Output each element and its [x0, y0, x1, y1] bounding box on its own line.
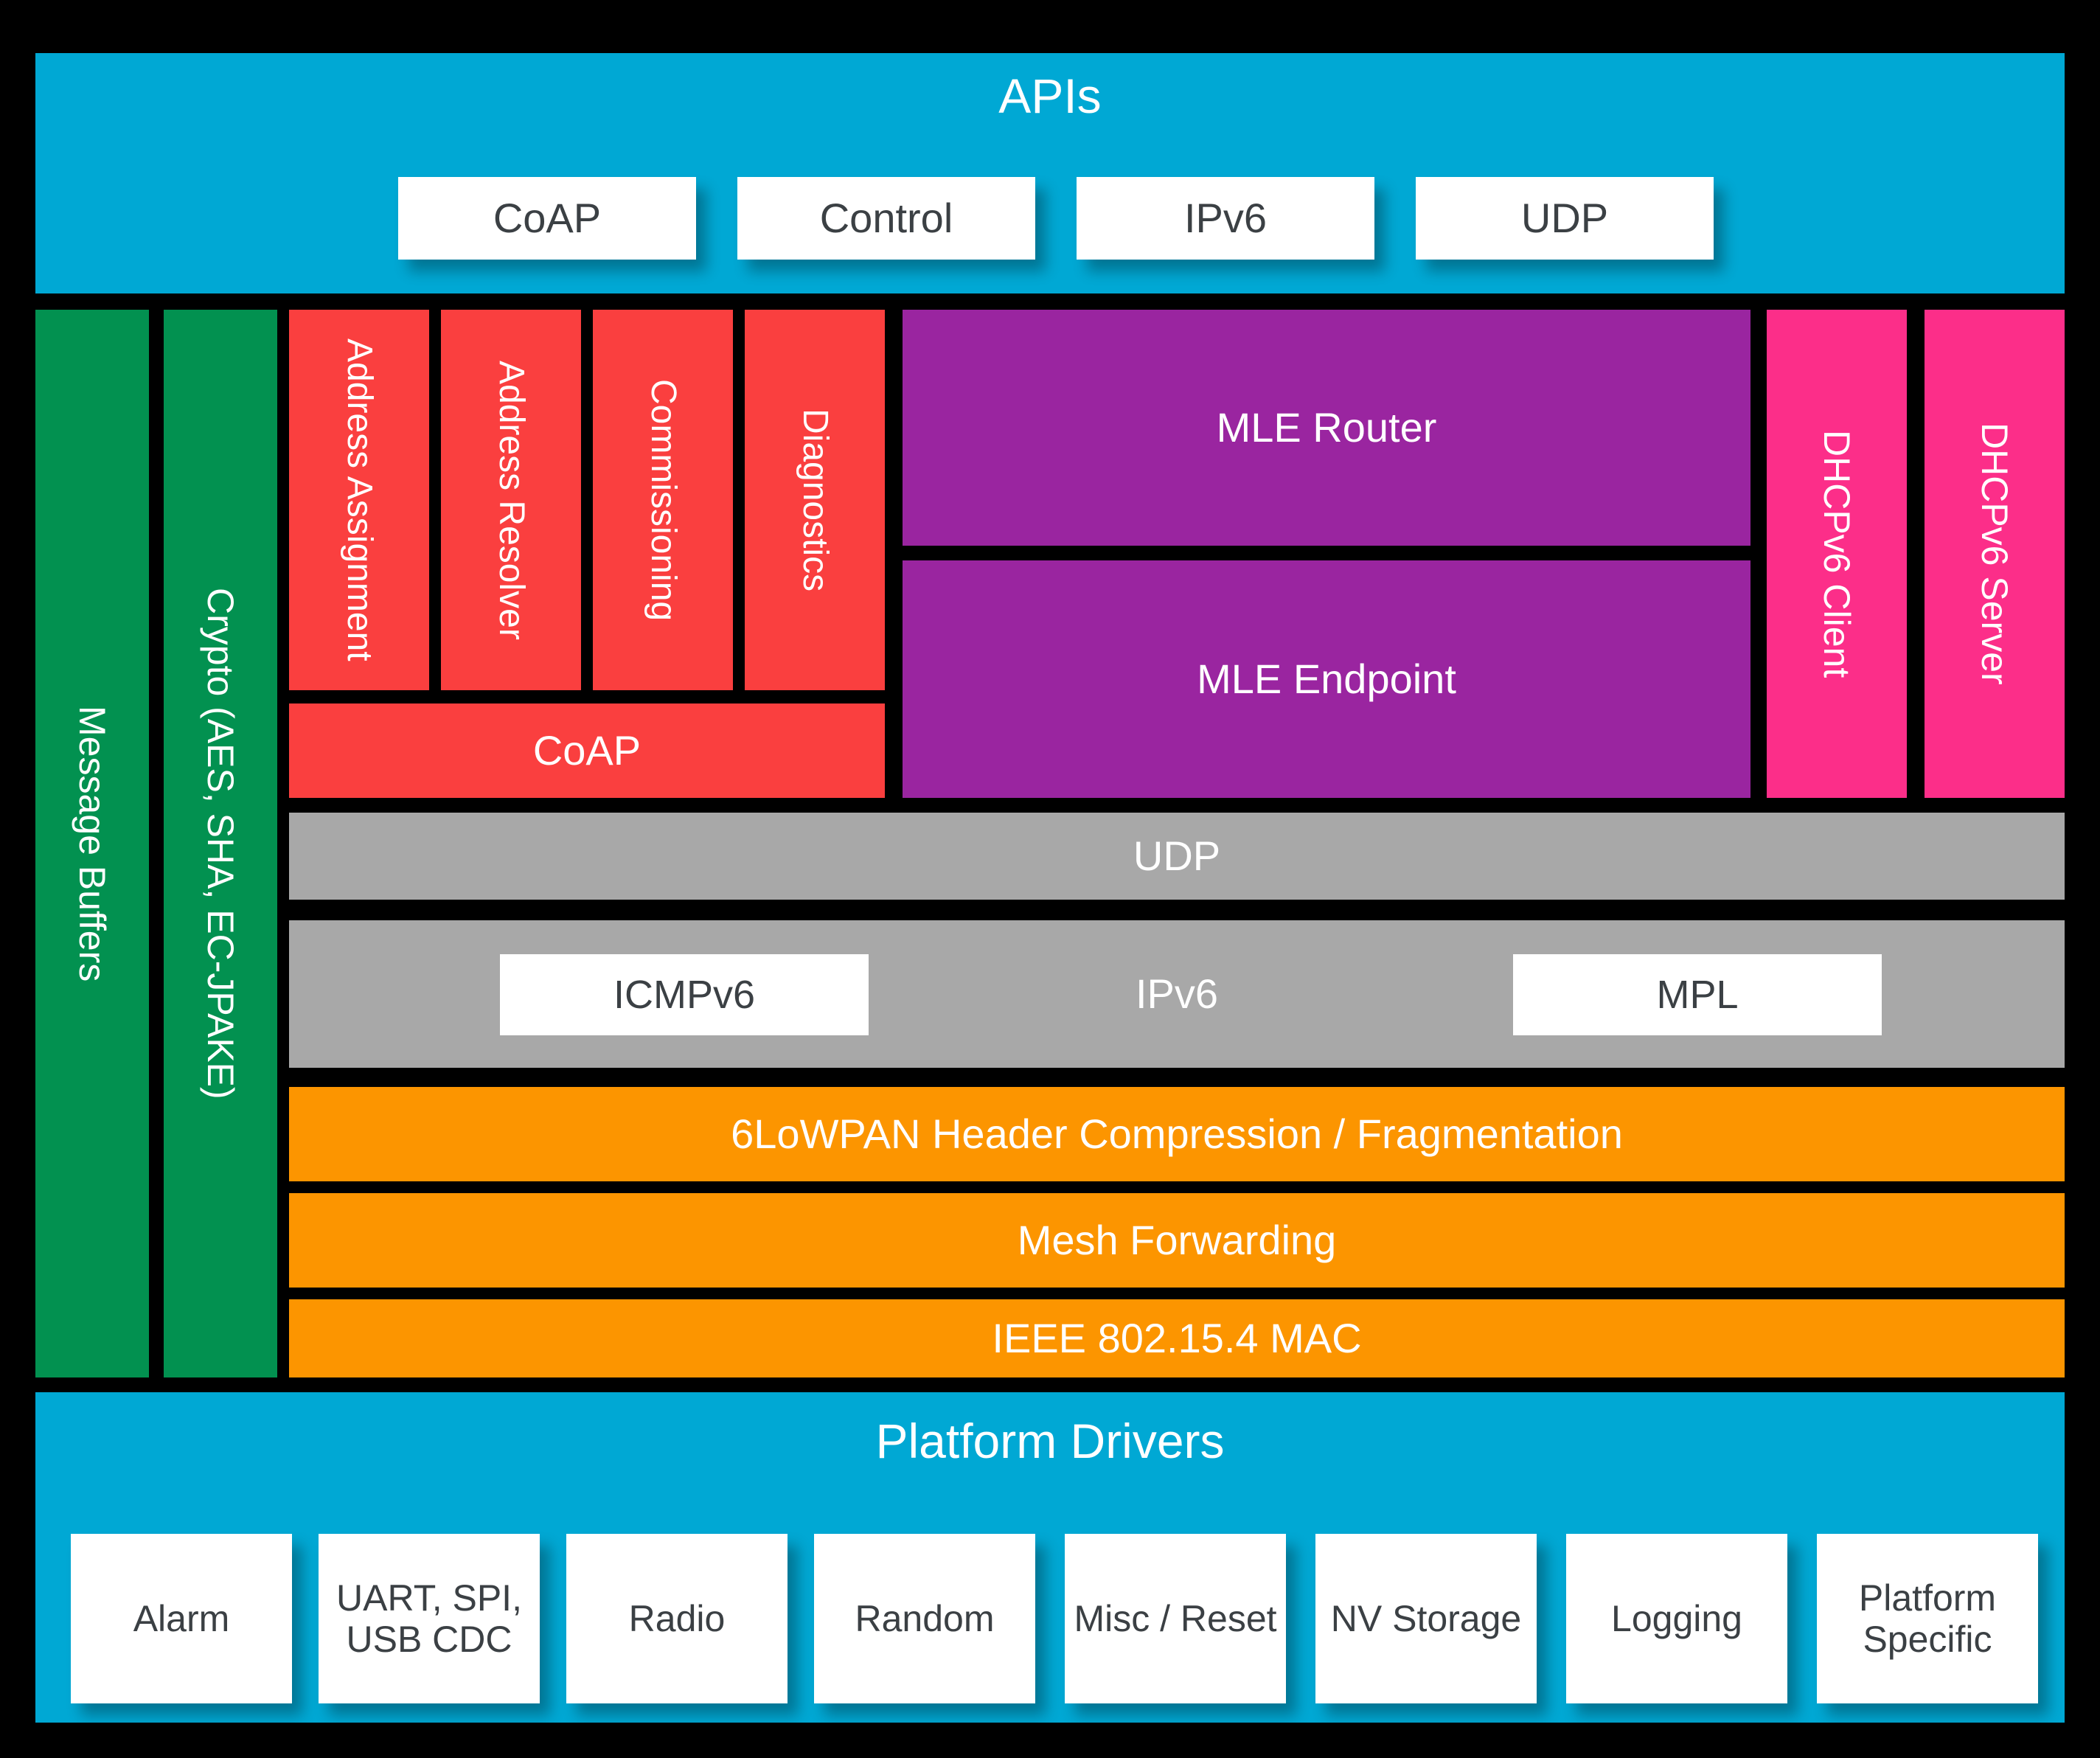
core-block-coap[interactable]: CoAP: [289, 703, 885, 798]
core-block-mle-router[interactable]: MLE Router: [903, 310, 1750, 546]
platform-driver-nv-storage[interactable]: NV Storage: [1315, 1534, 1537, 1703]
core-card-mpl[interactable]: MPL: [1513, 954, 1882, 1035]
core-card-icmpv6[interactable]: ICMPv6: [500, 954, 869, 1035]
platform-driver-platform-specific[interactable]: Platform Specific: [1817, 1534, 2038, 1703]
api-card-udp[interactable]: UDP: [1416, 177, 1714, 260]
core-block-6lowpan[interactable]: 6LoWPAN Header Compression / Fragmentati…: [289, 1087, 2065, 1181]
platform-driver-logging[interactable]: Logging: [1566, 1534, 1787, 1703]
core-column-address-assignment[interactable]: Address Assignment: [289, 310, 429, 690]
api-layer-band: APIs: [35, 53, 2065, 293]
core-column-message-buffers[interactable]: Message Buffers: [35, 310, 149, 1377]
core-column-dhcpv6-server[interactable]: DHCPv6 Server: [1925, 310, 2065, 798]
core-column-crypto[interactable]: Crypto (AES, SHA, EC-JPAKE): [164, 310, 277, 1377]
platform-layer-title: Platform Drivers: [35, 1408, 2065, 1475]
platform-driver-alarm[interactable]: Alarm: [71, 1534, 292, 1703]
core-block-mle-endpoint[interactable]: MLE Endpoint: [903, 560, 1750, 798]
platform-driver-uart-spi-usb-cdc[interactable]: UART, SPI, USB CDC: [319, 1534, 540, 1703]
core-block-ieee-802154-mac[interactable]: IEEE 802.15.4 MAC: [289, 1299, 2065, 1377]
core-block-mesh-forwarding[interactable]: Mesh Forwarding: [289, 1193, 2065, 1288]
platform-driver-radio[interactable]: Radio: [566, 1534, 787, 1703]
core-block-udp[interactable]: UDP: [289, 813, 2065, 900]
platform-driver-misc-reset[interactable]: Misc / Reset: [1065, 1534, 1286, 1703]
api-layer-title: APIs: [35, 63, 2065, 130]
platform-driver-random[interactable]: Random: [814, 1534, 1035, 1703]
core-column-commissioning[interactable]: Commissioning: [593, 310, 733, 690]
stack-architecture-diagram: APIs CoAP Control IPv6 UDP Message Buffe…: [0, 0, 2100, 1758]
api-card-coap[interactable]: CoAP: [398, 177, 696, 260]
api-card-ipv6[interactable]: IPv6: [1077, 177, 1374, 260]
core-column-address-resolver[interactable]: Address Resolver: [441, 310, 581, 690]
api-card-control[interactable]: Control: [737, 177, 1035, 260]
core-column-diagnostics[interactable]: Diagnostics: [745, 310, 885, 690]
core-column-dhcpv6-client[interactable]: DHCPv6 Client: [1767, 310, 1907, 798]
